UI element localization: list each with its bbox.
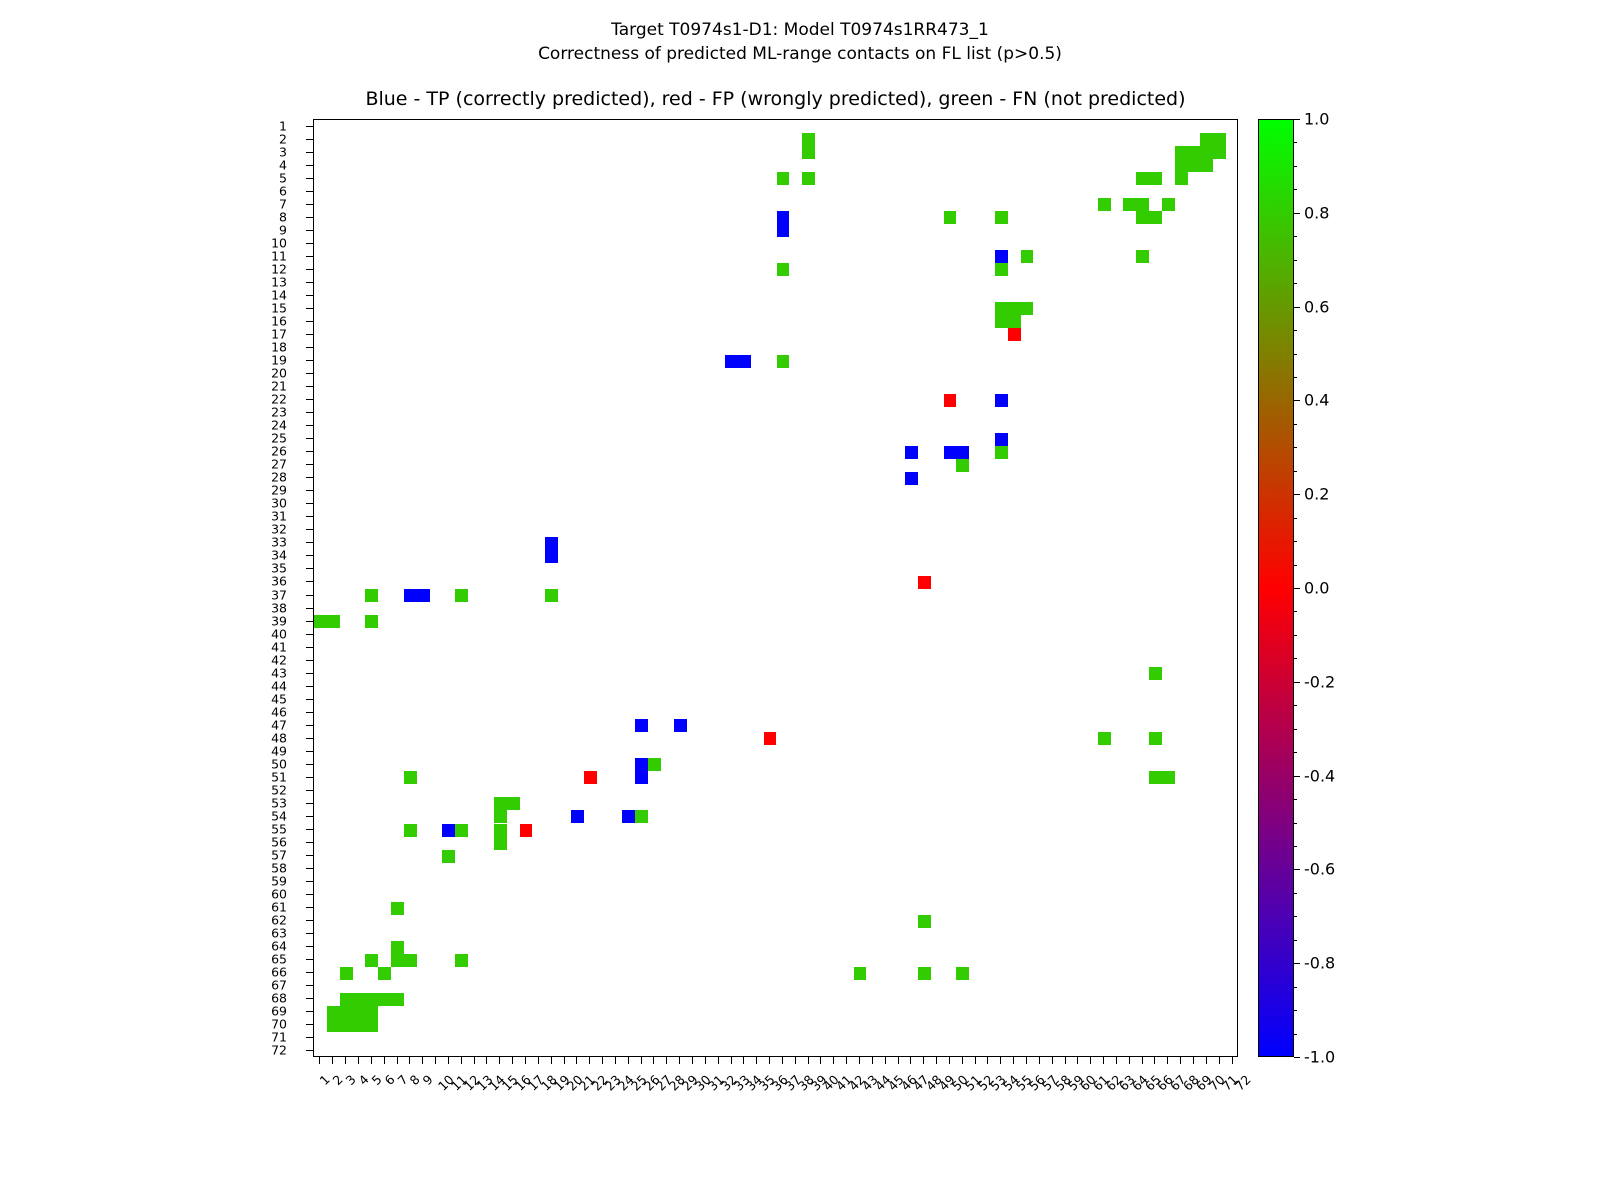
colorbar-tick-mark: [1294, 119, 1300, 120]
chart-titles: Target T0974s1-D1: Model T0974s1RR473_1 …: [0, 0, 1600, 66]
y-tick-mark: [306, 178, 313, 179]
colorbar-minor-tick: [1294, 189, 1297, 190]
x-tick-label: 3: [343, 1072, 359, 1088]
contact-cell-fn: [455, 954, 468, 967]
colorbar-tick-mark: [1294, 494, 1300, 495]
y-tick-mark: [306, 581, 313, 582]
colorbar-tick-mark: [1294, 963, 1300, 964]
y-tick-mark: [306, 334, 313, 335]
contact-cell-fn: [404, 824, 417, 837]
y-tick-mark: [306, 660, 313, 661]
contact-cell-fn: [995, 315, 1021, 328]
y-tick-mark: [306, 451, 313, 452]
x-tick-mark: [820, 1057, 821, 1064]
colorbar-minor-tick: [1294, 166, 1297, 167]
contact-cell-fn: [442, 850, 455, 863]
y-tick-mark: [306, 1011, 313, 1012]
colorbar-minor-tick: [1294, 823, 1297, 824]
y-tick-mark: [306, 621, 313, 622]
contact-cell-fn: [956, 459, 969, 472]
x-tick-label: 6: [381, 1072, 397, 1088]
y-tick-mark: [306, 516, 313, 517]
contact-cell-tp: [404, 589, 430, 602]
contact-cell-fn: [455, 824, 468, 837]
contact-cell-fn: [1123, 198, 1149, 211]
x-tick-mark: [872, 1057, 873, 1064]
x-tick-mark: [987, 1057, 988, 1064]
contact-cell-fn: [854, 967, 867, 980]
x-tick-mark: [936, 1057, 937, 1064]
contact-cell-tp: [905, 472, 918, 485]
x-tick-mark: [769, 1057, 770, 1064]
y-tick-mark: [306, 647, 313, 648]
x-tick-label: 8: [407, 1072, 423, 1088]
colorbar-tick-mark: [1294, 400, 1300, 401]
x-tick-mark: [564, 1057, 565, 1064]
contact-cell-fn: [365, 615, 378, 628]
x-tick-mark: [795, 1057, 796, 1064]
x-axis: 1234567891011121314151617181920212223242…: [313, 1057, 1238, 1200]
x-tick-mark: [679, 1057, 680, 1064]
contact-cell-tp: [725, 355, 751, 368]
y-tick-mark: [306, 894, 313, 895]
x-tick-mark: [1065, 1057, 1066, 1064]
contact-cell-fn: [494, 837, 507, 850]
x-tick-mark: [1026, 1057, 1027, 1064]
contact-cell-fn: [391, 902, 404, 915]
colorbar-tick-mark: [1294, 307, 1300, 308]
contact-cell-fn: [365, 954, 378, 967]
x-tick-mark: [923, 1057, 924, 1064]
contact-cell-fn: [1136, 250, 1149, 263]
contact-cell-tp: [545, 537, 558, 563]
x-tick-mark: [743, 1057, 744, 1064]
contact-cell-fn: [802, 172, 815, 185]
y-tick-mark: [306, 308, 313, 309]
x-tick-label: 5: [368, 1072, 384, 1088]
contact-cell-fp: [520, 824, 533, 837]
contact-cell-fn: [995, 446, 1008, 459]
chart-title-main: Target T0974s1-D1: Model T0974s1RR473_1: [0, 18, 1600, 42]
y-tick-mark: [306, 881, 313, 882]
x-tick-mark: [756, 1057, 757, 1064]
x-tick-mark: [1052, 1057, 1053, 1064]
y-tick-mark: [306, 217, 313, 218]
contact-cell-fp: [1008, 328, 1021, 341]
colorbar-minor-tick: [1294, 518, 1297, 519]
x-tick-mark: [1077, 1057, 1078, 1064]
colorbar-tick-label: -1.0: [1304, 1048, 1335, 1067]
x-tick-mark: [1013, 1057, 1014, 1064]
y-tick-mark: [306, 360, 313, 361]
contact-cell-fn: [995, 263, 1008, 276]
y-tick-mark: [306, 868, 313, 869]
y-tick-mark: [306, 634, 313, 635]
y-tick-mark: [306, 165, 313, 166]
contact-map-plot[interactable]: [313, 119, 1238, 1057]
x-tick-mark: [371, 1057, 372, 1064]
colorbar-minor-tick: [1294, 541, 1297, 542]
x-tick-mark: [1193, 1057, 1194, 1064]
y-axis: 1234567891011121314151617181920212223242…: [0, 119, 313, 1057]
colorbar-minor-tick: [1294, 471, 1297, 472]
colorbar-minor-tick: [1294, 893, 1297, 894]
x-tick-mark: [910, 1057, 911, 1064]
y-tick-mark: [306, 399, 313, 400]
contact-cell-fn: [1098, 198, 1111, 211]
contact-cell-fn: [494, 824, 507, 837]
contact-cell-tp: [635, 719, 648, 732]
colorbar-minor-tick: [1294, 565, 1297, 566]
contact-cell-fn: [918, 967, 931, 980]
x-tick-mark: [538, 1057, 539, 1064]
colorbar-minor-tick: [1294, 658, 1297, 659]
contact-cell-tp: [995, 394, 1008, 407]
y-tick-mark: [306, 425, 313, 426]
contact-cell-fn: [1149, 732, 1162, 745]
x-tick-mark: [589, 1057, 590, 1064]
colorbar-tick-label: -0.6: [1304, 860, 1335, 879]
x-tick-mark: [332, 1057, 333, 1064]
x-tick-mark: [602, 1057, 603, 1064]
colorbar-tick-label: 0.0: [1304, 579, 1329, 598]
y-tick-mark: [306, 152, 313, 153]
contact-cell-fn: [995, 211, 1008, 224]
x-tick-mark: [885, 1057, 886, 1064]
contact-cell-tp: [905, 446, 918, 459]
x-tick-mark: [512, 1057, 513, 1064]
colorbar-minor-tick: [1294, 799, 1297, 800]
y-tick-mark: [306, 764, 313, 765]
colorbar-minor-tick: [1294, 447, 1297, 448]
y-tick-mark: [306, 490, 313, 491]
y-tick-mark: [306, 464, 313, 465]
y-tick-mark: [306, 1050, 313, 1051]
contact-cell-tp: [995, 433, 1008, 446]
contact-cell-fn: [365, 589, 378, 602]
colorbar-minor-tick: [1294, 354, 1297, 355]
x-tick-mark: [1154, 1057, 1155, 1064]
contact-cell-fn: [802, 133, 815, 159]
contact-cell-fn: [1200, 133, 1226, 159]
y-tick-mark: [306, 751, 313, 752]
contact-cell-fn: [455, 589, 468, 602]
contact-cell-fn: [314, 615, 340, 628]
y-tick-mark: [306, 204, 313, 205]
colorbar-minor-tick: [1294, 705, 1297, 706]
x-tick-mark: [345, 1057, 346, 1064]
contact-cell-tp: [635, 758, 648, 771]
contact-cell-tp: [944, 446, 970, 459]
colorbar-minor-tick: [1294, 916, 1297, 917]
x-tick-mark: [808, 1057, 809, 1064]
x-tick-mark: [1103, 1057, 1104, 1064]
contact-cell-fn: [378, 967, 391, 980]
x-tick-mark: [846, 1057, 847, 1064]
contact-cell-fn: [777, 172, 790, 185]
x-tick-mark: [975, 1057, 976, 1064]
x-tick-mark: [1129, 1057, 1130, 1064]
y-tick-mark: [306, 829, 313, 830]
colorbar-minor-tick: [1294, 236, 1297, 237]
chart-title-sub: Correctness of predicted ML-range contac…: [0, 42, 1600, 66]
x-tick-mark: [461, 1057, 462, 1064]
contact-cell-fn: [1136, 172, 1162, 185]
x-tick-mark: [705, 1057, 706, 1064]
x-tick-mark: [962, 1057, 963, 1064]
x-tick-mark: [1142, 1057, 1143, 1064]
contact-cells-layer: [314, 120, 1237, 1056]
y-tick-mark: [306, 568, 313, 569]
y-tick-mark: [306, 712, 313, 713]
colorbar-minor-tick: [1294, 611, 1297, 612]
y-tick-mark: [306, 985, 313, 986]
y-tick-mark: [306, 816, 313, 817]
y-tick-mark: [306, 256, 313, 257]
y-tick-mark: [306, 542, 313, 543]
y-tick-mark: [306, 777, 313, 778]
contact-cell-fn: [494, 797, 520, 810]
y-tick-mark: [306, 855, 313, 856]
colorbar-minor-tick: [1294, 142, 1297, 143]
colorbar-minor-tick: [1294, 330, 1297, 331]
x-tick-mark: [1090, 1057, 1091, 1064]
x-tick-mark: [666, 1057, 667, 1064]
contact-cell-fn: [777, 263, 790, 276]
y-tick-mark: [306, 191, 313, 192]
colorbar-tick-mark: [1294, 1057, 1300, 1058]
x-tick-mark: [435, 1057, 436, 1064]
x-tick-mark: [1180, 1057, 1181, 1064]
x-tick-mark: [525, 1057, 526, 1064]
colorbar: 1.00.80.60.40.20.0-0.2-0.4-0.6-0.8-1.0: [1258, 119, 1294, 1057]
colorbar-tick-label: -0.4: [1304, 766, 1335, 785]
contact-cell-fn: [404, 771, 417, 784]
x-tick-mark: [641, 1057, 642, 1064]
y-tick-mark: [306, 295, 313, 296]
x-tick-mark: [898, 1057, 899, 1064]
x-tick-label: 72: [1231, 1072, 1253, 1094]
x-tick-mark: [949, 1057, 950, 1064]
colorbar-minor-tick: [1294, 260, 1297, 261]
colorbar-tick-mark: [1294, 588, 1300, 589]
y-tick-mark: [306, 907, 313, 908]
y-tick-mark: [306, 933, 313, 934]
y-tick-mark: [306, 790, 313, 791]
y-tick-mark: [306, 686, 313, 687]
x-tick-mark: [833, 1057, 834, 1064]
contact-cell-fn: [340, 993, 391, 1006]
contact-cell-fp: [944, 394, 957, 407]
contact-cell-fn: [1136, 211, 1162, 224]
contact-cell-tp: [674, 719, 687, 732]
y-tick-mark: [306, 373, 313, 374]
x-tick-mark: [628, 1057, 629, 1064]
contact-cell-tp: [571, 810, 584, 823]
colorbar-minor-tick: [1294, 424, 1297, 425]
y-tick-mark: [306, 438, 313, 439]
colorbar-tick-label: -0.8: [1304, 954, 1335, 973]
x-tick-mark: [397, 1057, 398, 1064]
colorbar-tick-mark: [1294, 776, 1300, 777]
colorbar-major-ticks: [1258, 119, 1294, 1057]
colorbar-tick-mark: [1294, 869, 1300, 870]
y-tick-mark: [306, 673, 313, 674]
y-tick-mark: [306, 477, 313, 478]
y-tick-mark: [306, 243, 313, 244]
x-tick-mark: [718, 1057, 719, 1064]
x-tick-label: 9: [420, 1072, 436, 1088]
y-tick-mark: [306, 738, 313, 739]
x-tick-mark: [1219, 1057, 1220, 1064]
colorbar-minor-tick: [1294, 729, 1297, 730]
y-tick-mark: [306, 269, 313, 270]
x-tick-mark: [1039, 1057, 1040, 1064]
y-tick-mark: [306, 608, 313, 609]
contact-cell-fn: [918, 915, 931, 928]
contact-cell-fn: [1098, 732, 1111, 745]
x-tick-mark: [358, 1057, 359, 1064]
y-tick-mark: [306, 412, 313, 413]
x-tick-mark: [615, 1057, 616, 1064]
contact-cell-fn: [1021, 250, 1034, 263]
y-tick-mark: [306, 1024, 313, 1025]
contact-cell-fn: [327, 1006, 353, 1019]
x-tick-mark: [653, 1057, 654, 1064]
x-tick-mark: [1232, 1057, 1233, 1064]
y-tick-mark: [306, 555, 313, 556]
y-tick-mark: [306, 386, 313, 387]
x-tick-mark: [474, 1057, 475, 1064]
colorbar-minor-tick: [1294, 1010, 1297, 1011]
y-tick-mark: [306, 699, 313, 700]
contact-cell-fn: [1149, 667, 1162, 680]
x-tick-mark: [499, 1057, 500, 1064]
y-tick-mark: [306, 1037, 313, 1038]
contact-cell-tp: [777, 211, 790, 237]
x-tick-mark: [1206, 1057, 1207, 1064]
y-tick-mark: [306, 803, 313, 804]
x-tick-mark: [859, 1057, 860, 1064]
contact-cell-fn: [1162, 198, 1175, 211]
x-tick-mark: [692, 1057, 693, 1064]
x-tick-mark: [551, 1057, 552, 1064]
colorbar-minor-tick: [1294, 377, 1297, 378]
colorbar-minor-tick: [1294, 752, 1297, 753]
contact-cell-fp: [918, 576, 931, 589]
contact-cell-fn: [995, 302, 1034, 315]
contact-cell-fn: [777, 355, 790, 368]
contact-cell-tp: [995, 250, 1008, 263]
y-tick-mark: [306, 920, 313, 921]
x-tick-mark: [422, 1057, 423, 1064]
contact-cell-fn: [391, 993, 404, 1006]
x-tick-mark: [384, 1057, 385, 1064]
colorbar-minor-tick: [1294, 1034, 1297, 1035]
contact-cell-tp: [442, 824, 455, 837]
y-tick-mark: [306, 946, 313, 947]
colorbar-tick-label: 0.6: [1304, 297, 1329, 316]
colorbar-tick-label: 0.4: [1304, 391, 1329, 410]
contact-cell-fn: [340, 967, 353, 980]
contact-cell-fp: [584, 771, 597, 784]
contact-cell-fn: [545, 589, 558, 602]
y-tick-mark: [306, 503, 313, 504]
contact-cell-fn: [1149, 771, 1175, 784]
x-tick-mark: [782, 1057, 783, 1064]
x-tick-mark: [1167, 1057, 1168, 1064]
x-tick-label: 1: [317, 1072, 333, 1088]
x-tick-mark: [1116, 1057, 1117, 1064]
y-tick-mark: [306, 347, 313, 348]
contact-cell-fp: [764, 732, 777, 745]
contact-cell-fn: [956, 967, 969, 980]
contact-cell-fn: [391, 941, 404, 967]
contact-cell-fn: [404, 954, 417, 967]
y-tick-mark: [306, 972, 313, 973]
colorbar-tick-label: 0.8: [1304, 203, 1329, 222]
colorbar-tick-label: 1.0: [1304, 110, 1329, 129]
colorbar-minor-tick: [1294, 635, 1297, 636]
y-tick-mark: [306, 321, 313, 322]
y-tick-mark: [306, 282, 313, 283]
colorbar-minor-tick: [1294, 846, 1297, 847]
x-tick-mark: [448, 1057, 449, 1064]
y-tick-mark: [306, 959, 313, 960]
x-tick-mark: [319, 1057, 320, 1064]
x-tick-mark: [409, 1057, 410, 1064]
colorbar-tick-mark: [1294, 682, 1300, 683]
colorbar-tick-label: -0.2: [1304, 672, 1335, 691]
contact-cell-fn: [648, 758, 661, 771]
y-tick-mark: [306, 998, 313, 999]
x-tick-label: 4: [355, 1072, 371, 1088]
contact-cell-fn: [1175, 172, 1188, 185]
colorbar-minor-tick: [1294, 940, 1297, 941]
contact-cell-tp: [622, 810, 635, 823]
x-tick-mark: [486, 1057, 487, 1064]
y-tick-mark: [306, 842, 313, 843]
x-tick-mark: [576, 1057, 577, 1064]
colorbar-minor-tick: [1294, 283, 1297, 284]
y-tick-mark: [306, 595, 313, 596]
colorbar-tick-mark: [1294, 213, 1300, 214]
colorbar-tick-label: 0.2: [1304, 485, 1329, 504]
y-tick-mark: [306, 126, 313, 127]
y-tick-mark: [306, 230, 313, 231]
y-tick-label: 72: [271, 1043, 287, 1058]
contact-cell-fn: [944, 211, 957, 224]
contact-cell-fn: [494, 810, 507, 823]
axes-title-legend: Blue - TP (correctly predicted), red - F…: [313, 88, 1238, 110]
contact-cell-fn: [635, 810, 648, 823]
contact-cell-tp: [635, 771, 648, 784]
x-tick-mark: [1000, 1057, 1001, 1064]
x-tick-mark: [731, 1057, 732, 1064]
x-tick-label: 2: [330, 1072, 346, 1088]
y-tick-mark: [306, 529, 313, 530]
colorbar-minor-tick: [1294, 987, 1297, 988]
y-tick-mark: [306, 139, 313, 140]
y-tick-mark: [306, 725, 313, 726]
